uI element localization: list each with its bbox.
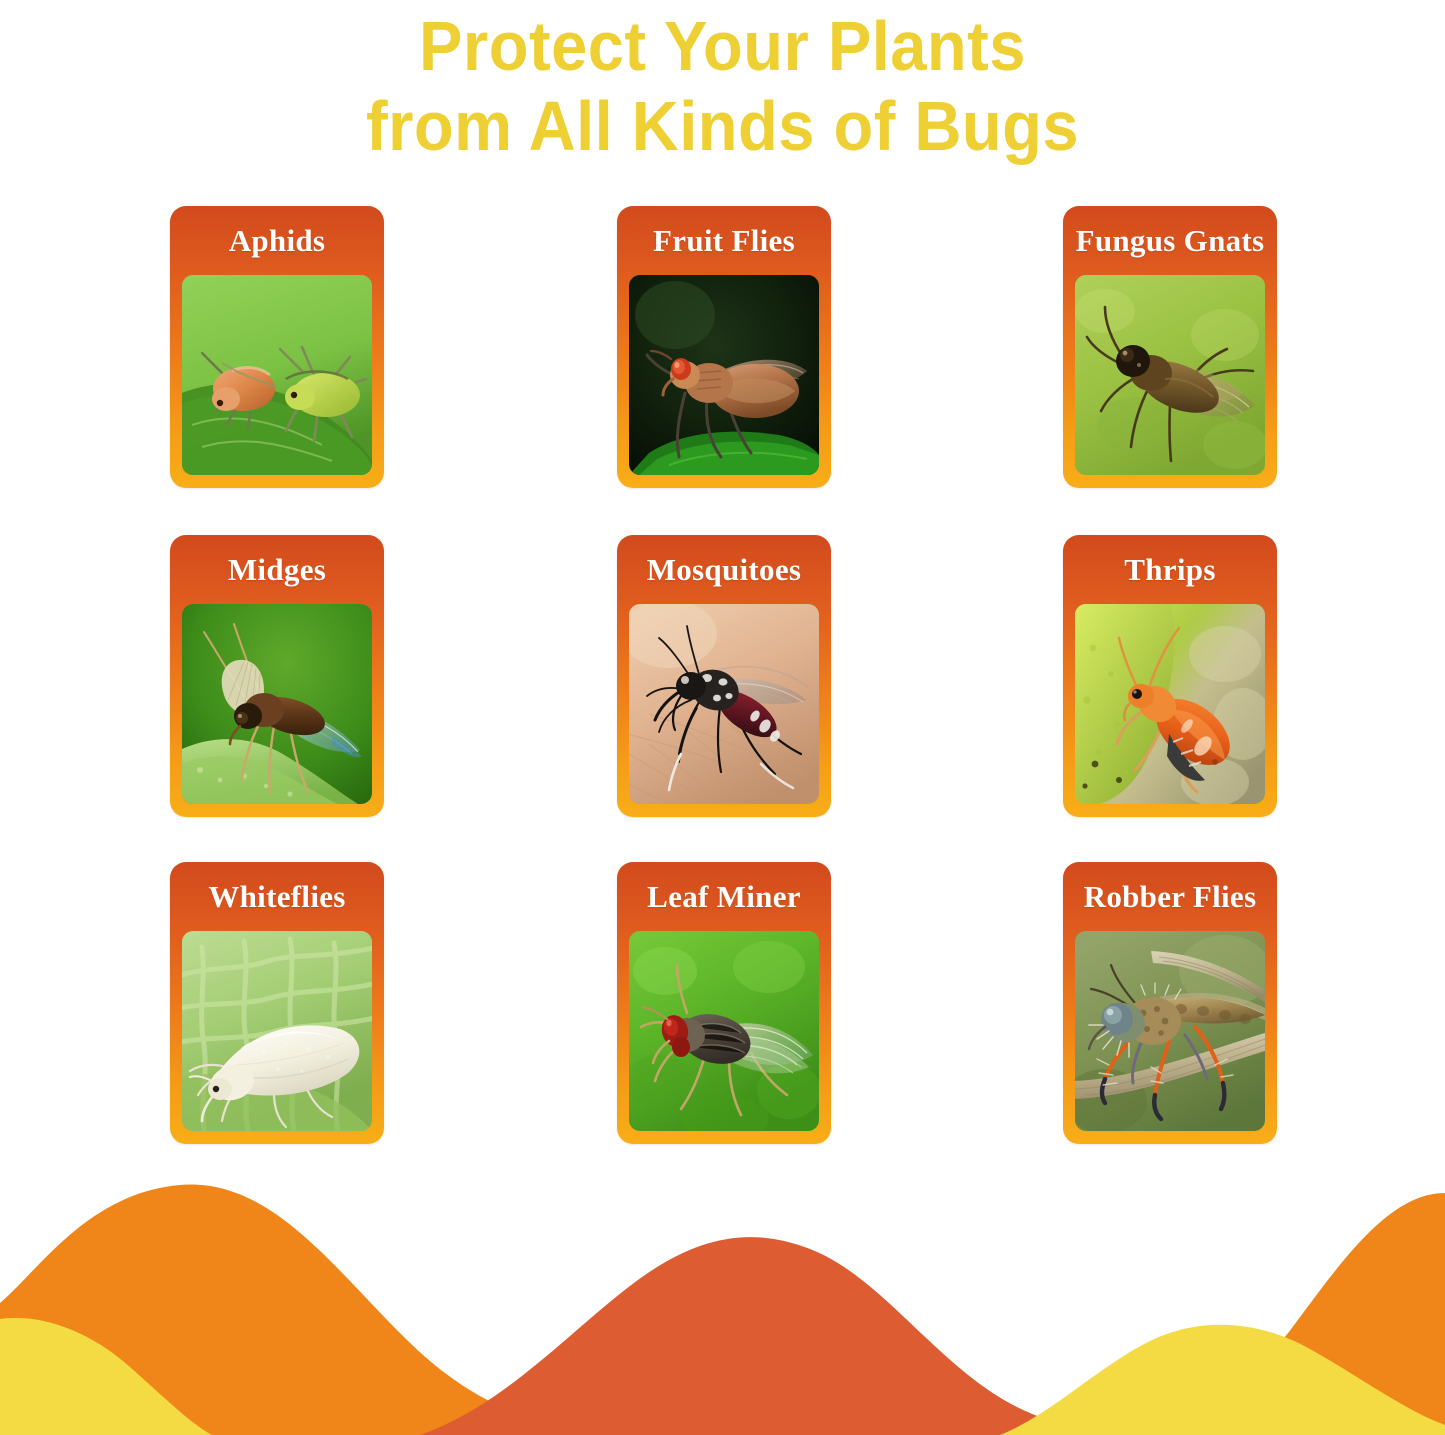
poster-canvas: Protect Your Plants from All Kinds of Bu… <box>0 0 1445 1435</box>
bug-card-label: Aphids <box>170 223 384 259</box>
bug-card-midges[interactable]: Midges <box>170 535 384 817</box>
bug-card-label: Fungus Gnats <box>1063 223 1277 259</box>
bug-card-robber-flies[interactable]: Robber Flies <box>1063 862 1277 1144</box>
robber-flies-photo <box>1075 931 1265 1131</box>
mosquitoes-photo <box>629 604 819 804</box>
midges-photo <box>182 604 372 804</box>
bug-card-label: Thrips <box>1063 552 1277 588</box>
title-line-1: Protect Your Plants <box>51 6 1395 86</box>
bug-card-label: Mosquitoes <box>617 552 831 588</box>
bug-card-label: Whiteflies <box>170 879 384 915</box>
red-orange-wave <box>420 1237 1160 1435</box>
bug-card-fungus-gnats[interactable]: Fungus Gnats <box>1063 206 1277 488</box>
title-line-2: from All Kinds of Bugs <box>51 86 1395 166</box>
bug-card-label: Robber Flies <box>1063 879 1277 915</box>
page-title: Protect Your Plants from All Kinds of Bu… <box>0 6 1445 166</box>
fungus-gnats-photo <box>1075 275 1265 475</box>
bug-card-label: Fruit Flies <box>617 223 831 259</box>
whiteflies-photo <box>182 931 372 1131</box>
fruit-flies-photo <box>629 275 819 475</box>
thrips-photo <box>1075 604 1265 804</box>
bug-card-aphids[interactable]: Aphids <box>170 206 384 488</box>
bug-card-leaf-miner[interactable]: Leaf Miner <box>617 862 831 1144</box>
bug-card-whiteflies[interactable]: Whiteflies <box>170 862 384 1144</box>
bug-card-fruit-flies[interactable]: Fruit Flies <box>617 206 831 488</box>
bug-card-label: Leaf Miner <box>617 879 831 915</box>
aphids-photo <box>182 275 372 475</box>
leaf-miner-photo <box>629 931 819 1131</box>
bug-card-thrips[interactable]: Thrips <box>1063 535 1277 817</box>
decorative-waves <box>0 1173 1445 1435</box>
bug-card-mosquitoes[interactable]: Mosquitoes <box>617 535 831 817</box>
bug-card-grid: Aphids <box>170 206 1280 1151</box>
bug-card-label: Midges <box>170 552 384 588</box>
